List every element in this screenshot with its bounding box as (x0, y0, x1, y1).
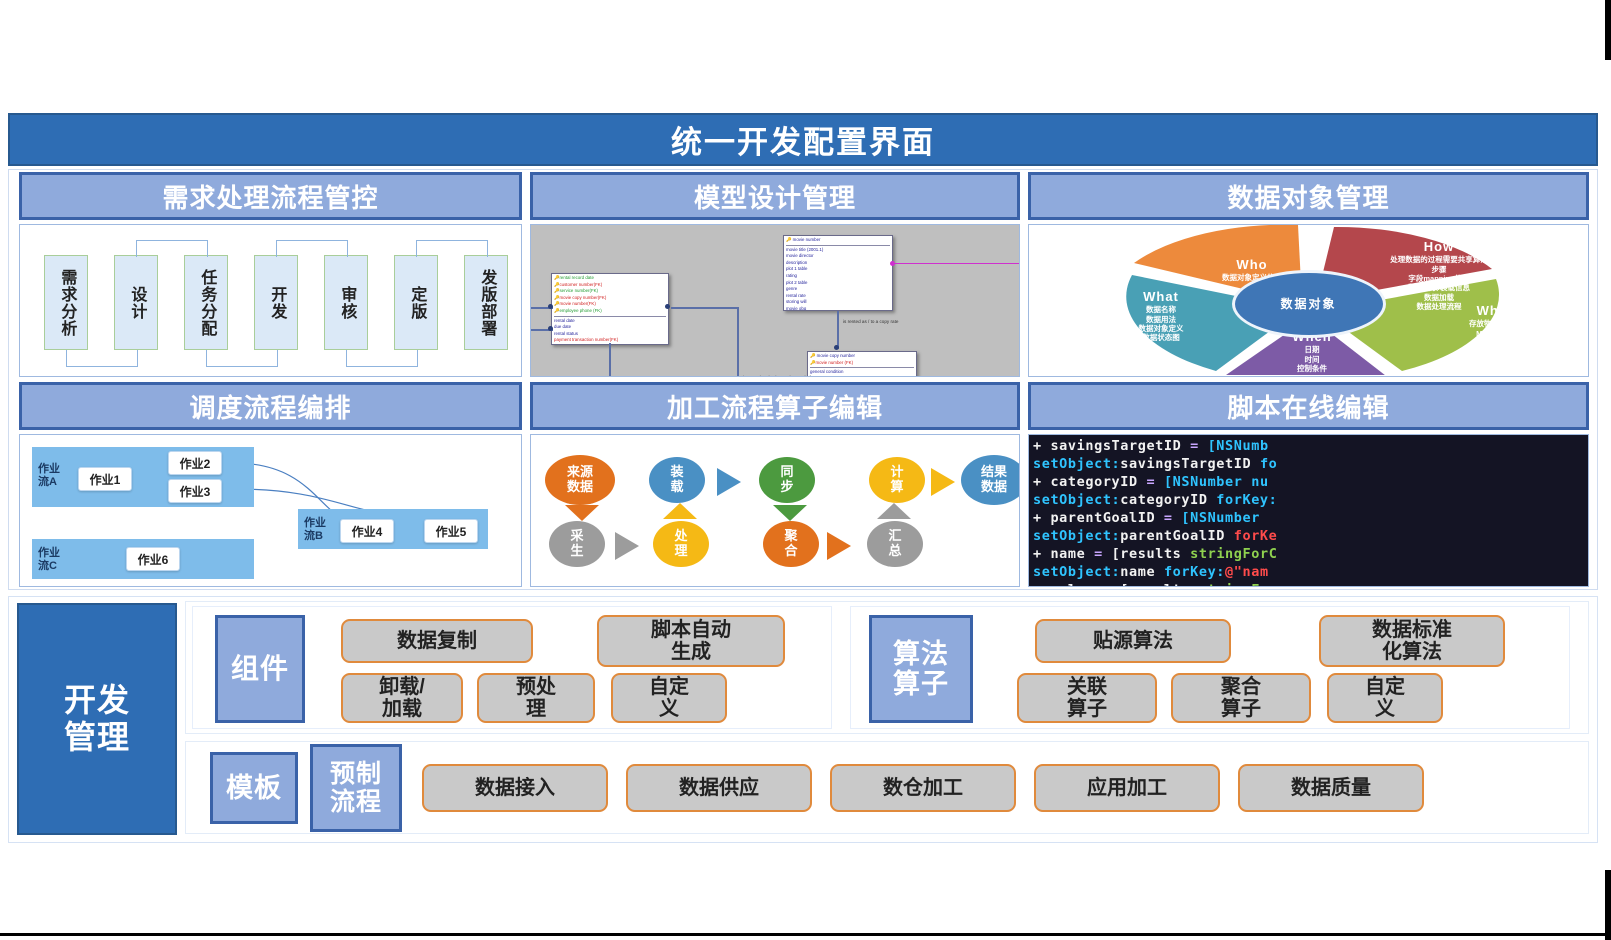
arrow-up-gray-icon (877, 503, 911, 519)
connector-bottom-3 (346, 350, 418, 367)
er-relation-label-1: is rented as / to a copy rate (843, 319, 917, 326)
group-algorithm-operators: 算法 算子 贴源算法 数据标准 化算法 关联 算子 聚合 算子 自定 义 (850, 606, 1570, 729)
flow-node-4[interactable]: 开发 (254, 255, 298, 350)
job-node-3[interactable]: 作业3 (168, 479, 222, 503)
operator-node-collect[interactable]: 采 生 (549, 521, 605, 567)
operator-node-process[interactable]: 处 理 (653, 521, 709, 567)
operator-node-aggregate[interactable]: 聚 合 (763, 521, 819, 567)
er-link (609, 343, 611, 377)
er-entity-movie[interactable]: MOVIE 🔑 movie number movie title (2001.1… (783, 235, 893, 311)
group-key-preset-flow[interactable]: 预制 流程 (310, 744, 402, 832)
diagram-frame: 统一开发配置界面 需求处理流程管控 需求分析 设计 任务分配 开发 (8, 113, 1604, 845)
er-endpoint (834, 345, 839, 350)
er-entity-movie-copy[interactable]: MOVIE_COPY 🔑 movie copy number 🔑movie nu… (807, 351, 917, 377)
operator-node-sync[interactable]: 同 步 (759, 457, 815, 503)
panel-header-text: 需求处理流程管控 (162, 178, 378, 215)
code-editor[interactable]: + savingsTargetID = [NSNumb setObject:sa… (1029, 435, 1588, 586)
operator-node-load[interactable]: 装 载 (649, 457, 705, 503)
chip-standardization-algorithm[interactable]: 数据标准 化算法 (1319, 615, 1505, 667)
job-node-6[interactable]: 作业6 (126, 547, 180, 571)
chip-warehouse-processing[interactable]: 数仓加工 (830, 764, 1016, 812)
er-entity-title: MOVIE_COPY (810, 351, 843, 352)
chip-source-algorithm[interactable]: 贴源算法 (1035, 619, 1231, 663)
job-node-1[interactable]: 作业1 (78, 467, 132, 491)
panel-header-text: 加工流程算子编辑 (667, 388, 883, 425)
panel-requirement-flow[interactable]: 需求处理流程管控 需求分析 设计 任务分配 开发 审核 定版 发版部署 (19, 172, 522, 377)
job-flow-label-a: 作业 流A (38, 463, 60, 488)
panel-body-requirement-flow: 需求分析 设计 任务分配 开发 审核 定版 发版部署 (19, 224, 522, 377)
connector-top-3 (416, 240, 488, 257)
er-link-highlight (893, 263, 1019, 264)
chip-data-supply[interactable]: 数据供应 (626, 764, 812, 812)
flow-node-1[interactable]: 需求分析 (44, 255, 88, 350)
job-node-2[interactable]: 作业2 (168, 451, 222, 475)
panel-body-data-object: Who 数据对象定义信息 How 处理数据的过程需要共享算法 步骤 字段mapp… (1028, 224, 1589, 377)
connector-top-1 (136, 240, 208, 257)
chip-aggregate-operator[interactable]: 聚合 算子 (1171, 673, 1311, 723)
panel-grid: 需求处理流程管控 需求分析 设计 任务分配 开发 审核 定版 发版部署 (8, 169, 1598, 590)
group-key-template[interactable]: 模板 (210, 752, 298, 824)
dev-management-section: 开发 管理 组件 数据复制 脚本自动 生成 卸载/ 加载 预处 理 自定 义 算… (8, 596, 1598, 843)
arrow-right-orange-icon (827, 532, 851, 560)
group-components: 组件 数据复制 脚本自动 生成 卸载/ 加载 预处 理 自定 义 (192, 606, 832, 729)
dev-row-components: 组件 数据复制 脚本自动 生成 卸载/ 加载 预处 理 自定 义 算法 算子 贴… (185, 601, 1589, 734)
operator-node-source-data[interactable]: 来源 数据 (545, 455, 615, 505)
chip-preprocess[interactable]: 预处 理 (477, 673, 595, 723)
er-diagram: MOVIE_RENTAL_RECORD 🔑rental record date … (531, 225, 1019, 376)
chip-data-quality[interactable]: 数据质量 (1238, 764, 1424, 812)
panel-body-operator-editor: 来源 数据 装 载 同 步 计 算 结果 数据 采 生 处 理 聚 合 汇 总 (530, 434, 1020, 587)
connector-top-2 (276, 240, 348, 257)
panel-body-schedule: 作业 流A 作业1 作业2 作业3 作业 流B 作业4 作业5 作业 流C 作业… (19, 434, 522, 587)
er-entity-title: MOVIE_RENTAL_RECORD (554, 273, 617, 274)
panel-header-requirement-flow: 需求处理流程管控 (19, 172, 522, 220)
panel-row-1: 需求处理流程管控 需求分析 设计 任务分配 开发 审核 定版 发版部署 (9, 172, 1597, 377)
job-node-5[interactable]: 作业5 (424, 519, 478, 543)
panel-body-script-editor: + savingsTargetID = [NSNumb setObject:sa… (1028, 434, 1589, 587)
data-object-pie-chart: Who 数据对象定义信息 How 处理数据的过程需要共享算法 步骤 字段mapp… (1029, 225, 1588, 376)
operator-node-compute[interactable]: 计 算 (869, 457, 925, 503)
flow-node-6[interactable]: 定版 (394, 255, 438, 350)
chip-data-ingest[interactable]: 数据接入 (422, 764, 608, 812)
chip-script-auto-generation[interactable]: 脚本自动 生成 (597, 615, 785, 667)
pie-center-label: 数据对象 (1232, 270, 1386, 338)
panel-header-script-editor: 脚本在线编辑 (1028, 382, 1589, 430)
arrow-down-green-icon (773, 505, 807, 521)
er-entity-movie-rental-record[interactable]: MOVIE_RENTAL_RECORD 🔑rental record date … (551, 273, 669, 345)
slide-canvas: 统一开发配置界面 需求处理流程管控 需求分析 设计 任务分配 开发 (0, 0, 1611, 940)
panel-schedule[interactable]: 调度流程编排 作业 流A 作业1 作业2 作业3 (19, 382, 522, 587)
panel-operator-editor[interactable]: 加工流程算子编辑 来源 数据 装 载 同 步 计 算 结果 数据 采 生 处 理… (530, 382, 1020, 587)
operator-node-result-data[interactable]: 结果 数据 (961, 455, 1020, 505)
dev-management-content: 组件 数据复制 脚本自动 生成 卸载/ 加载 预处 理 自定 义 算法 算子 贴… (185, 601, 1589, 838)
pie-label-what: What 数据名称 数据用法 数据对象定义 数据状态图 (1091, 289, 1231, 343)
arrow-right-gray-icon (615, 532, 639, 560)
chip-join-operator[interactable]: 关联 算子 (1017, 673, 1157, 723)
chip-application-processing[interactable]: 应用加工 (1034, 764, 1220, 812)
er-endpoint (665, 304, 670, 309)
panel-header-data-object: 数据对象管理 (1028, 172, 1589, 220)
flow-node-7[interactable]: 发版部署 (464, 255, 508, 350)
panel-header-operator-editor: 加工流程算子编辑 (530, 382, 1020, 430)
connector-bottom-1 (66, 350, 138, 367)
connector-bottom-2 (206, 350, 278, 367)
panel-header-text: 数据对象管理 (1227, 178, 1389, 215)
panel-row-2: 调度流程编排 作业 流A 作业1 作业2 作业3 (9, 382, 1597, 587)
panel-data-object[interactable]: 数据对象管理 (1028, 172, 1589, 377)
panel-script-editor[interactable]: 脚本在线编辑 + savingsTargetID = [NSNumb setOb… (1028, 382, 1589, 587)
group-key-algorithm-operators[interactable]: 算法 算子 (869, 615, 973, 723)
arrow-up-yellow-icon (663, 503, 697, 519)
chip-unload-load[interactable]: 卸载/ 加载 (341, 673, 463, 723)
page-title-text: 统一开发配置界面 (671, 117, 935, 162)
flow-node-5[interactable]: 审核 (324, 255, 368, 350)
pie-label-where: Where 存放物理对象信息 Mapping关系 (1429, 303, 1569, 338)
right-edge-strip-top (1605, 0, 1611, 60)
arrow-right-blue-icon (717, 468, 741, 496)
er-endpoint (548, 304, 553, 309)
job-node-4[interactable]: 作业4 (340, 519, 394, 543)
bottom-rule (0, 933, 1611, 936)
dev-management-label: 开发 管理 (17, 603, 177, 835)
panel-header-model-design: 模型设计管理 (530, 172, 1020, 220)
group-key-components[interactable]: 组件 (215, 615, 305, 723)
panel-body-model-design: MOVIE_RENTAL_RECORD 🔑rental record date … (530, 224, 1020, 377)
er-entity-title: MOVIE (786, 235, 802, 236)
panel-header-text: 模型设计管理 (694, 178, 856, 215)
operator-node-summary[interactable]: 汇 总 (867, 521, 923, 567)
er-link (671, 307, 739, 309)
er-link (837, 311, 839, 349)
job-flow-label-c: 作业 流C (38, 547, 60, 572)
job-flow-label-b: 作业 流B (304, 517, 326, 542)
panel-header-text: 脚本在线编辑 (1227, 388, 1389, 425)
panel-header-schedule: 调度流程编排 (19, 382, 522, 430)
panel-header-text: 调度流程编排 (189, 388, 351, 425)
dev-row-templates: 模板 预制 流程 数据接入 数据供应 数仓加工 应用加工 数据质量 (185, 741, 1589, 834)
er-relation-label-2: is rented under / records rental of a (743, 375, 813, 377)
requirement-flow-diagram: 需求分析 设计 任务分配 开发 审核 定版 发版部署 (38, 233, 513, 368)
panel-model-design[interactable]: 模型设计管理 MOVIE_RENTAL_RECORD 🔑rental recor… (530, 172, 1020, 377)
er-endpoint (890, 261, 895, 266)
chip-custom-operator[interactable]: 自定 义 (1327, 673, 1443, 723)
flow-node-3[interactable]: 任务分配 (184, 255, 228, 350)
arrow-right-yellow-icon (931, 468, 955, 496)
right-edge-strip-bottom (1605, 870, 1611, 940)
chip-custom-component[interactable]: 自定 义 (611, 673, 727, 723)
er-endpoint (548, 326, 553, 331)
arrow-down-orange-icon (565, 505, 599, 521)
flow-node-2[interactable]: 设计 (114, 255, 158, 350)
er-link (737, 307, 739, 377)
chip-data-replication[interactable]: 数据复制 (341, 619, 533, 663)
page-title: 统一开发配置界面 (8, 113, 1598, 166)
